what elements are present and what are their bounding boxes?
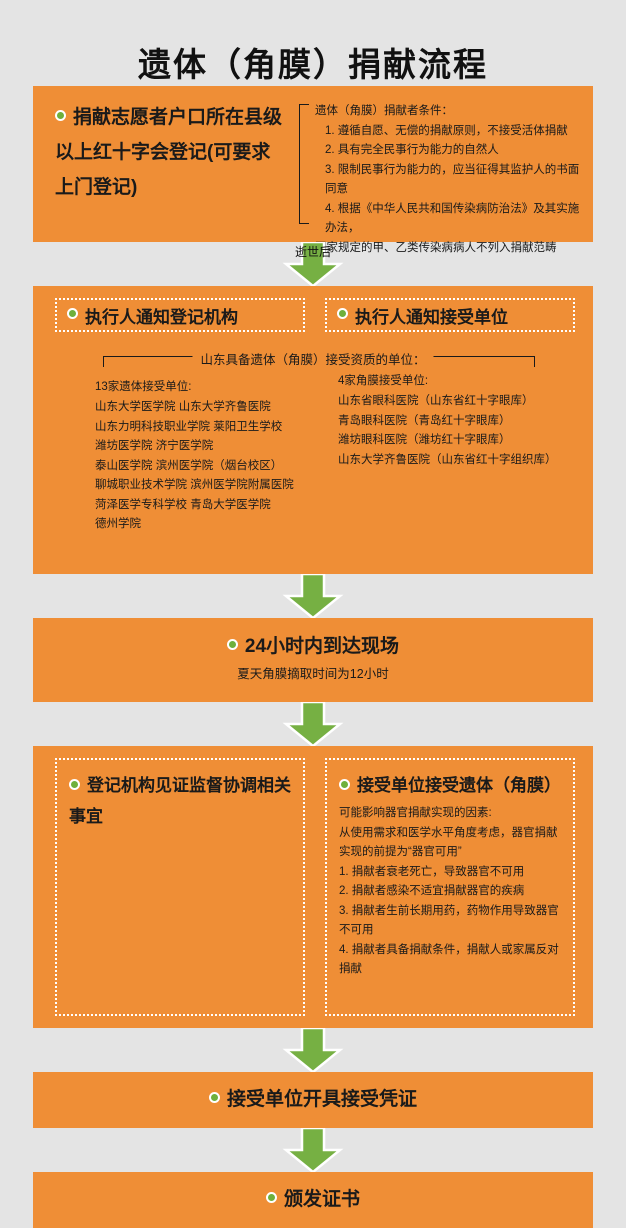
arrow-connector-2 — [33, 574, 593, 618]
flow-step-arrival[interactable]: 24小时内到达现场 夏天角膜摘取时间为12小时 — [33, 618, 593, 702]
down-arrow-icon — [278, 1028, 348, 1072]
bullet-icon — [266, 1192, 277, 1203]
step1-conditions-panel: 遗体（角膜）捐献者条件： 1. 遵循自愿、无偿的捐献原则，不接受活体捐献 2. … — [299, 102, 589, 258]
bullet-icon — [339, 779, 350, 790]
factor-item: 3. 捐献者生前长期用药，药物作用导致器官不可用 — [339, 902, 561, 941]
subbox-notify-registry[interactable]: 执行人通知登记机构 — [55, 298, 305, 332]
qualified-units-title: 山东具备遗体（角膜）接受资质的单位： — [192, 349, 433, 368]
factor-item: 4. 捐献者具备捐献条件，捐献人或家属反对捐献 — [339, 941, 561, 980]
flow-step-certificate-receipt[interactable]: 接受单位开具接受凭证 — [33, 1072, 593, 1128]
flow-step-acceptance[interactable]: 登记机构见证监督协调相关事宜 接受单位接受遗体（角膜） 可能影响器官捐献实现的因… — [33, 746, 593, 1028]
bullet-icon — [209, 1092, 220, 1103]
arrow-connector-3 — [33, 702, 593, 746]
step5-label-wrap: 接受单位开具接受凭证 — [33, 1086, 593, 1114]
cornea-units-title: 4家角膜接受单位: — [338, 372, 588, 391]
subbox-registry-supervision[interactable]: 登记机构见证监督协调相关事宜 — [55, 758, 305, 1016]
body-unit-item: 泰山医学院 滨州医学院（烟台校区） — [95, 457, 335, 477]
bullet-icon — [67, 308, 78, 319]
bullet-icon — [55, 110, 66, 121]
down-arrow-icon — [278, 574, 348, 618]
cornea-unit-item: 山东省眼科医院（山东省红十字眼库） — [338, 392, 588, 412]
arrow-label-after-death: 逝世后 — [295, 245, 331, 259]
cornea-unit-item: 青岛眼科医院（青岛红十字眼库） — [338, 412, 588, 432]
condition-item: 4. 根据《中华人民共和国传染病防治法》及其实施办法， — [315, 200, 589, 239]
factor-item: 2. 捐献者感染不适宜捐献器官的疾病 — [339, 882, 561, 902]
step1-label: 捐献志愿者户口所在县级以上红十字会登记(可要求上门登记) — [55, 107, 282, 198]
flow-step-registration[interactable]: 捐献志愿者户口所在县级以上红十字会登记(可要求上门登记) 遗体（角膜）捐献者条件… — [33, 86, 593, 242]
flow-step-issue-certificate[interactable]: 颁发证书 — [33, 1172, 593, 1228]
bullet-icon — [337, 308, 348, 319]
flow-step-notification[interactable]: 执行人通知登记机构 执行人通知接受单位 山东具备遗体（角膜）接受资质的单位： 1… — [33, 286, 593, 574]
flowchart: 捐献志愿者户口所在县级以上红十字会登记(可要求上门登记) 遗体（角膜）捐献者条件… — [33, 86, 593, 1228]
conditions-title: 遗体（角膜）捐献者条件： — [315, 102, 589, 122]
arrow-connector-4 — [33, 1028, 593, 1072]
step3-label: 24小时内到达现场 — [245, 636, 399, 657]
body-unit-item: 潍坊医学院 济宁医学院 — [95, 437, 335, 457]
body-unit-item: 聊城职业技术学院 滨州医学院附属医院 — [95, 476, 335, 496]
cornea-units-column: 4家角膜接受单位: 山东省眼科医院（山东省红十字眼库） 青岛眼科医院（青岛红十字… — [338, 372, 588, 470]
body-unit-item: 菏泽医学专科学校 青岛大学医学院 — [95, 496, 335, 516]
body-donation-units-column: 13家遗体接受单位: 山东大学医学院 山东大学齐鲁医院 山东力明科技职业学院 莱… — [95, 378, 335, 535]
down-arrow-icon — [278, 1128, 348, 1172]
pane-left-label: 登记机构见证监督协调相关事宜 — [69, 776, 291, 826]
body-unit-item: 山东大学医学院 山东大学齐鲁医院 — [95, 398, 335, 418]
step3-label-wrap: 24小时内到达现场 — [33, 632, 593, 662]
step6-label-wrap: 颁发证书 — [33, 1186, 593, 1214]
factors-title: 可能影响器官捐献实现的因素: — [339, 804, 561, 824]
factors-intro: 从使用需求和医学水平角度考虑，器官捐献实现的前提为“器官可用” — [339, 824, 561, 863]
step3-note: 夏天角膜摘取时间为12小时 — [33, 662, 593, 686]
condition-item: 3. 限制民事行为能力的，应当征得其监护人的书面同意 — [315, 161, 589, 200]
down-arrow-icon — [278, 702, 348, 746]
arrow-connector-5 — [33, 1128, 593, 1172]
body-unit-item: 山东力明科技职业学院 莱阳卫生学校 — [95, 418, 335, 438]
body-unit-item: 德州学院 — [95, 515, 335, 535]
pane-right-label: 接受单位接受遗体（角膜） — [357, 776, 561, 795]
step1-label-wrap: 捐献志愿者户口所在县级以上红十字会登记(可要求上门登记) — [55, 100, 285, 205]
step6-label: 颁发证书 — [284, 1189, 360, 1210]
body-units-title: 13家遗体接受单位: — [95, 378, 335, 397]
subbox-notify-registry-label: 执行人通知登记机构 — [85, 303, 238, 328]
subbox-notify-recipient[interactable]: 执行人通知接受单位 — [325, 298, 575, 332]
cornea-unit-item: 山东大学齐鲁医院（山东省红十字组织库） — [338, 451, 588, 471]
arrow-connector-1: 逝世后 — [33, 242, 593, 286]
pane-right-label-wrap: 接受单位接受遗体（角膜） — [339, 770, 561, 801]
conditions-list: 遗体（角膜）捐献者条件： 1. 遵循自愿、无偿的捐献原则，不接受活体捐献 2. … — [315, 102, 589, 258]
subbox-unit-accepts[interactable]: 接受单位接受遗体（角膜） 可能影响器官捐献实现的因素: 从使用需求和医学水平角度… — [325, 758, 575, 1016]
pane-left-label-wrap: 登记机构见证监督协调相关事宜 — [69, 770, 291, 832]
cornea-unit-item: 潍坊眼科医院（潍坊红十字眼库） — [338, 431, 588, 451]
condition-item: 1. 遵循自愿、无偿的捐献原则，不接受活体捐献 — [315, 122, 589, 142]
factor-item: 1. 捐献者衰老死亡，导致器官不可用 — [339, 863, 561, 883]
bullet-icon — [69, 779, 80, 790]
step5-label: 接受单位开具接受凭证 — [227, 1089, 417, 1110]
bracket-icon — [299, 104, 309, 224]
page-title: 遗体（角膜）捐献流程 — [0, 0, 626, 86]
subbox-notify-recipient-label: 执行人通知接受单位 — [355, 303, 508, 328]
condition-item: 2. 具有完全民事行为能力的自然人 — [315, 141, 589, 161]
bullet-icon — [227, 639, 238, 650]
